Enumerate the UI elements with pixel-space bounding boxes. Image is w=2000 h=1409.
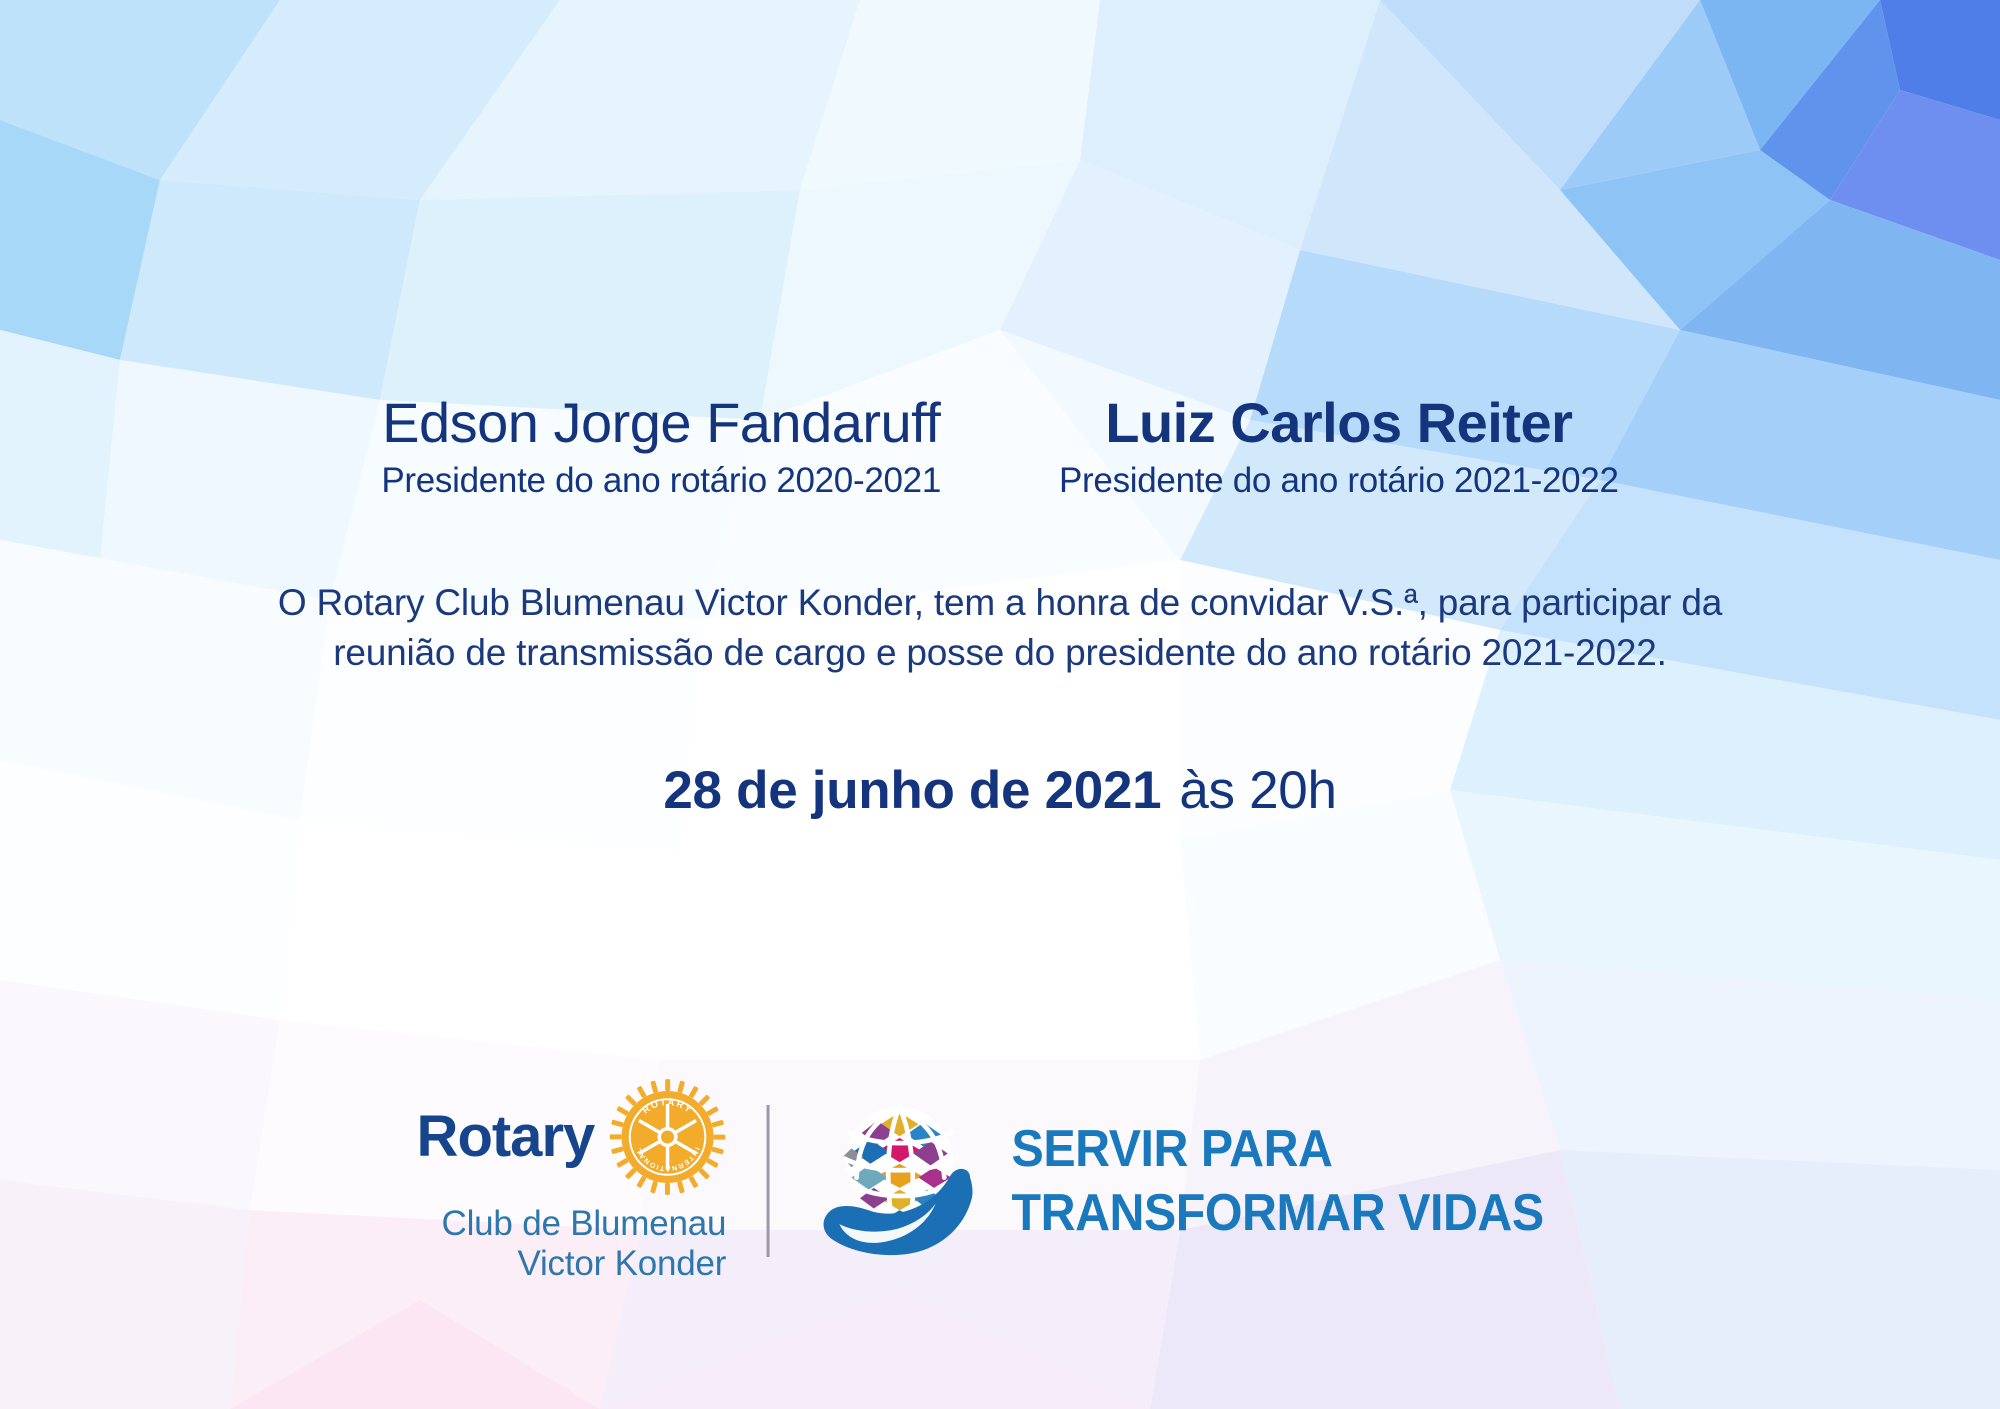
invitation-body-text: O Rotary Club Blumenau Victor Konder, te… xyxy=(265,578,1735,678)
invitation-card: Edson Jorge Fandaruff Presidente do ano … xyxy=(0,0,2000,1409)
president-role-incoming: Presidente do ano rotário 2021-2022 xyxy=(1059,463,1619,498)
president-role-outgoing: Presidente do ano rotário 2020-2021 xyxy=(381,463,941,498)
event-time: às 20h xyxy=(1179,761,1336,820)
theme-slogan-line2: TRANSFORMAR VIDAS xyxy=(1011,1187,1543,1239)
theme-slogan-line1: SERVIR PARA xyxy=(1011,1123,1543,1175)
hand-globe-icon xyxy=(813,1095,985,1267)
president-name-incoming: Luiz Carlos Reiter xyxy=(1059,395,1619,451)
rotary-wheel-icon: ROTARY INTERNATIONAL xyxy=(608,1078,726,1196)
rotary-theme-logo: SERVIR PARA TRANSFORMAR VIDAS xyxy=(813,1095,1583,1267)
rotary-club-logo: Rotary xyxy=(417,1078,767,1284)
president-name-outgoing: Edson Jorge Fandaruff xyxy=(381,395,941,451)
logo-divider xyxy=(766,1105,769,1257)
footer-logos: Rotary xyxy=(417,1078,1584,1284)
event-datetime: 28 de junho de 2021às 20h xyxy=(663,760,1336,821)
rotary-wordmark: Rotary xyxy=(417,1108,595,1166)
rotary-club-name-line2: Victor Konder xyxy=(517,1244,726,1284)
rotary-club-name-line1: Club de Blumenau xyxy=(442,1204,727,1244)
event-date: 28 de junho de 2021 xyxy=(663,761,1161,820)
president-block-outgoing: Edson Jorge Fandaruff Presidente do ano … xyxy=(381,395,941,498)
president-block-incoming: Luiz Carlos Reiter Presidente do ano rot… xyxy=(1059,395,1619,498)
presidents-row: Edson Jorge Fandaruff Presidente do ano … xyxy=(0,395,2000,498)
